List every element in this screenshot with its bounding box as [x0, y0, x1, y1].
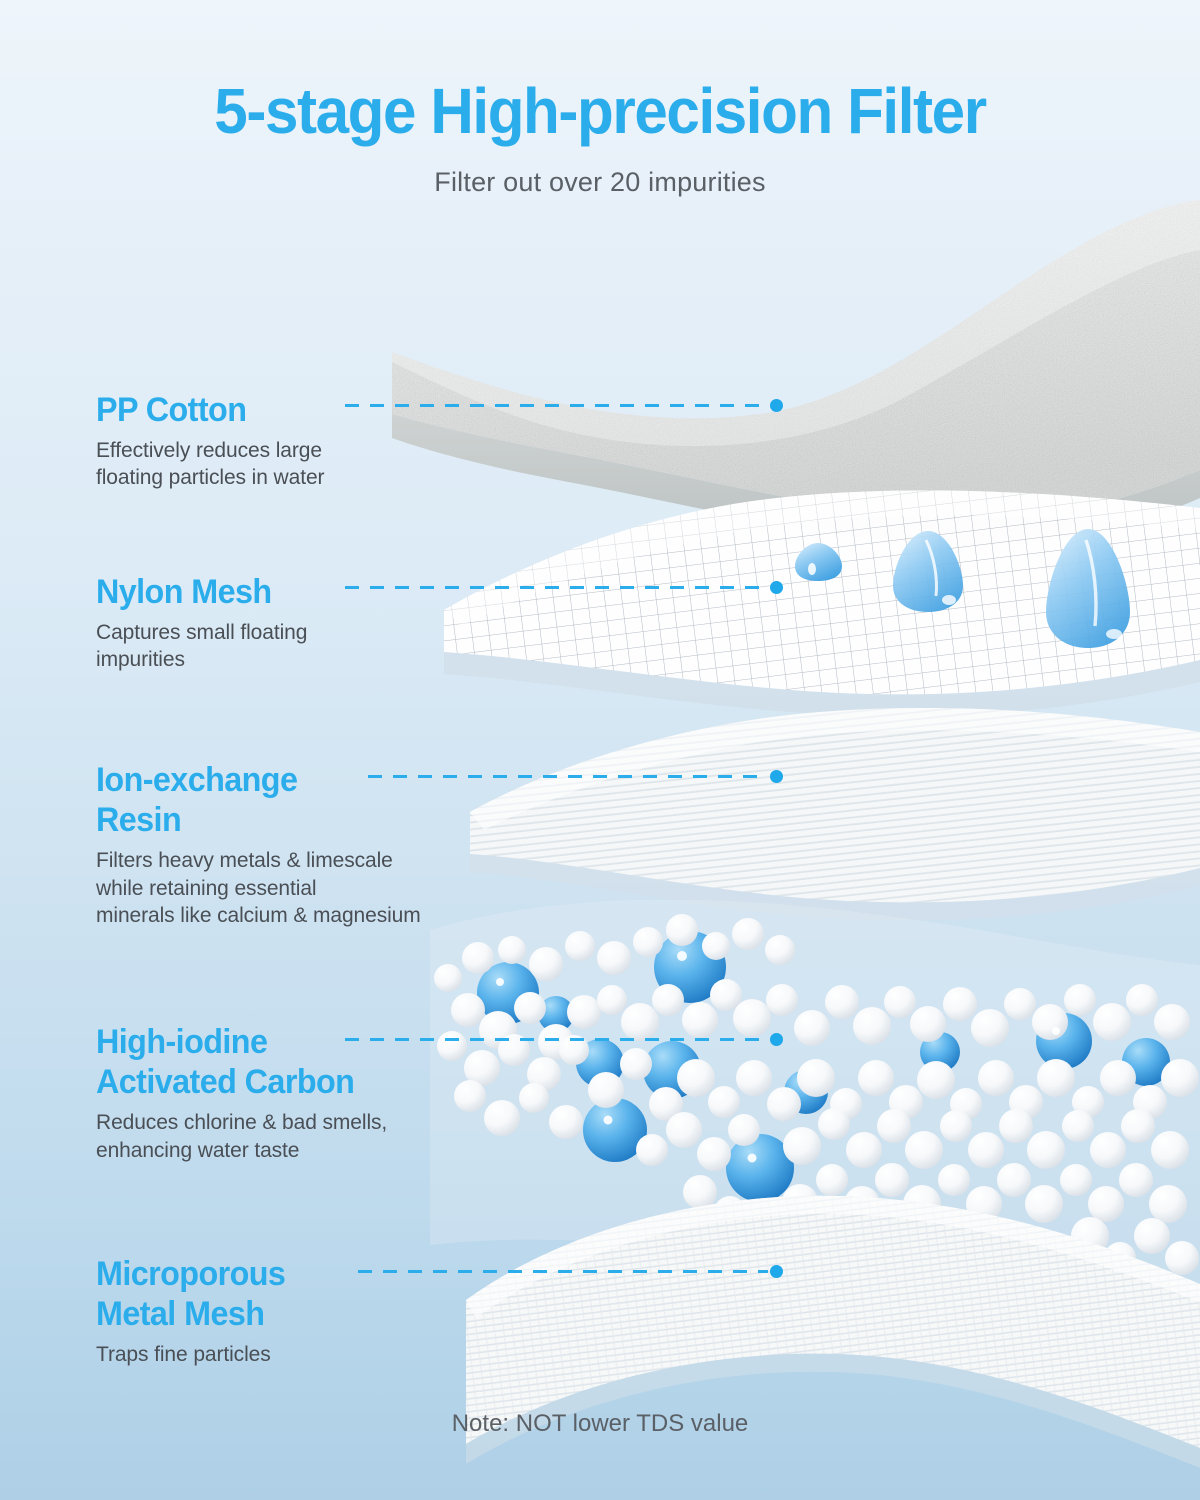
layer-description-nylon-mesh: Captures small floating impurities [96, 619, 307, 674]
layer-description-metal-mesh: Traps fine particles [96, 1341, 295, 1368]
leader-line-ion-exchange-resin [368, 775, 783, 778]
layer-title-nylon-mesh: Nylon Mesh [96, 572, 297, 612]
label-ion-exchange-resin: Ion-exchange Resin Filters heavy metals … [96, 760, 421, 929]
end-dot-icon [770, 399, 783, 412]
footer-note: Note: NOT lower TDS value [0, 1410, 1200, 1438]
dashed-line [345, 404, 768, 407]
label-pp-cotton: PP Cotton Effectively reduces large floa… [96, 390, 324, 492]
end-dot-icon [770, 581, 783, 594]
label-nylon-mesh: Nylon Mesh Captures small floating impur… [96, 572, 307, 674]
layer-title-activated-carbon: High-iodine Activated Carbon [96, 1022, 373, 1102]
label-metal-mesh: Microporous Metal Mesh Traps fine partic… [96, 1254, 295, 1369]
page-subtitle: Filter out over 20 impurities [0, 167, 1200, 198]
page-header: 5-stage High-precision Filter Filter out… [0, 0, 1200, 198]
end-dot-icon [770, 1033, 783, 1046]
layer-description-ion-exchange-resin: Filters heavy metals & limescale while r… [96, 847, 421, 929]
layer-description-pp-cotton: Effectively reduces large floating parti… [96, 437, 324, 492]
layer-title-metal-mesh: Microporous Metal Mesh [96, 1254, 285, 1334]
leader-line-nylon-mesh [345, 586, 783, 589]
page-title: 5-stage High-precision Filter [36, 78, 1164, 145]
leader-line-pp-cotton [345, 404, 783, 407]
dashed-line [368, 775, 768, 778]
end-dot-icon [770, 770, 783, 783]
layer-labels: PP Cotton Effectively reduces large floa… [0, 0, 1200, 1500]
label-activated-carbon: High-iodine Activated Carbon Reduces chl… [96, 1022, 387, 1164]
layer-description-activated-carbon: Reduces chlorine & bad smells, enhancing… [96, 1109, 387, 1164]
dashed-line [345, 1038, 768, 1041]
layer-title-pp-cotton: PP Cotton [96, 390, 313, 430]
end-dot-icon [770, 1265, 783, 1278]
leader-line-metal-mesh [358, 1270, 783, 1273]
dashed-line [345, 586, 768, 589]
layer-title-ion-exchange-resin: Ion-exchange Resin [96, 760, 404, 840]
dashed-line [358, 1270, 768, 1273]
leader-line-activated-carbon [345, 1038, 783, 1041]
